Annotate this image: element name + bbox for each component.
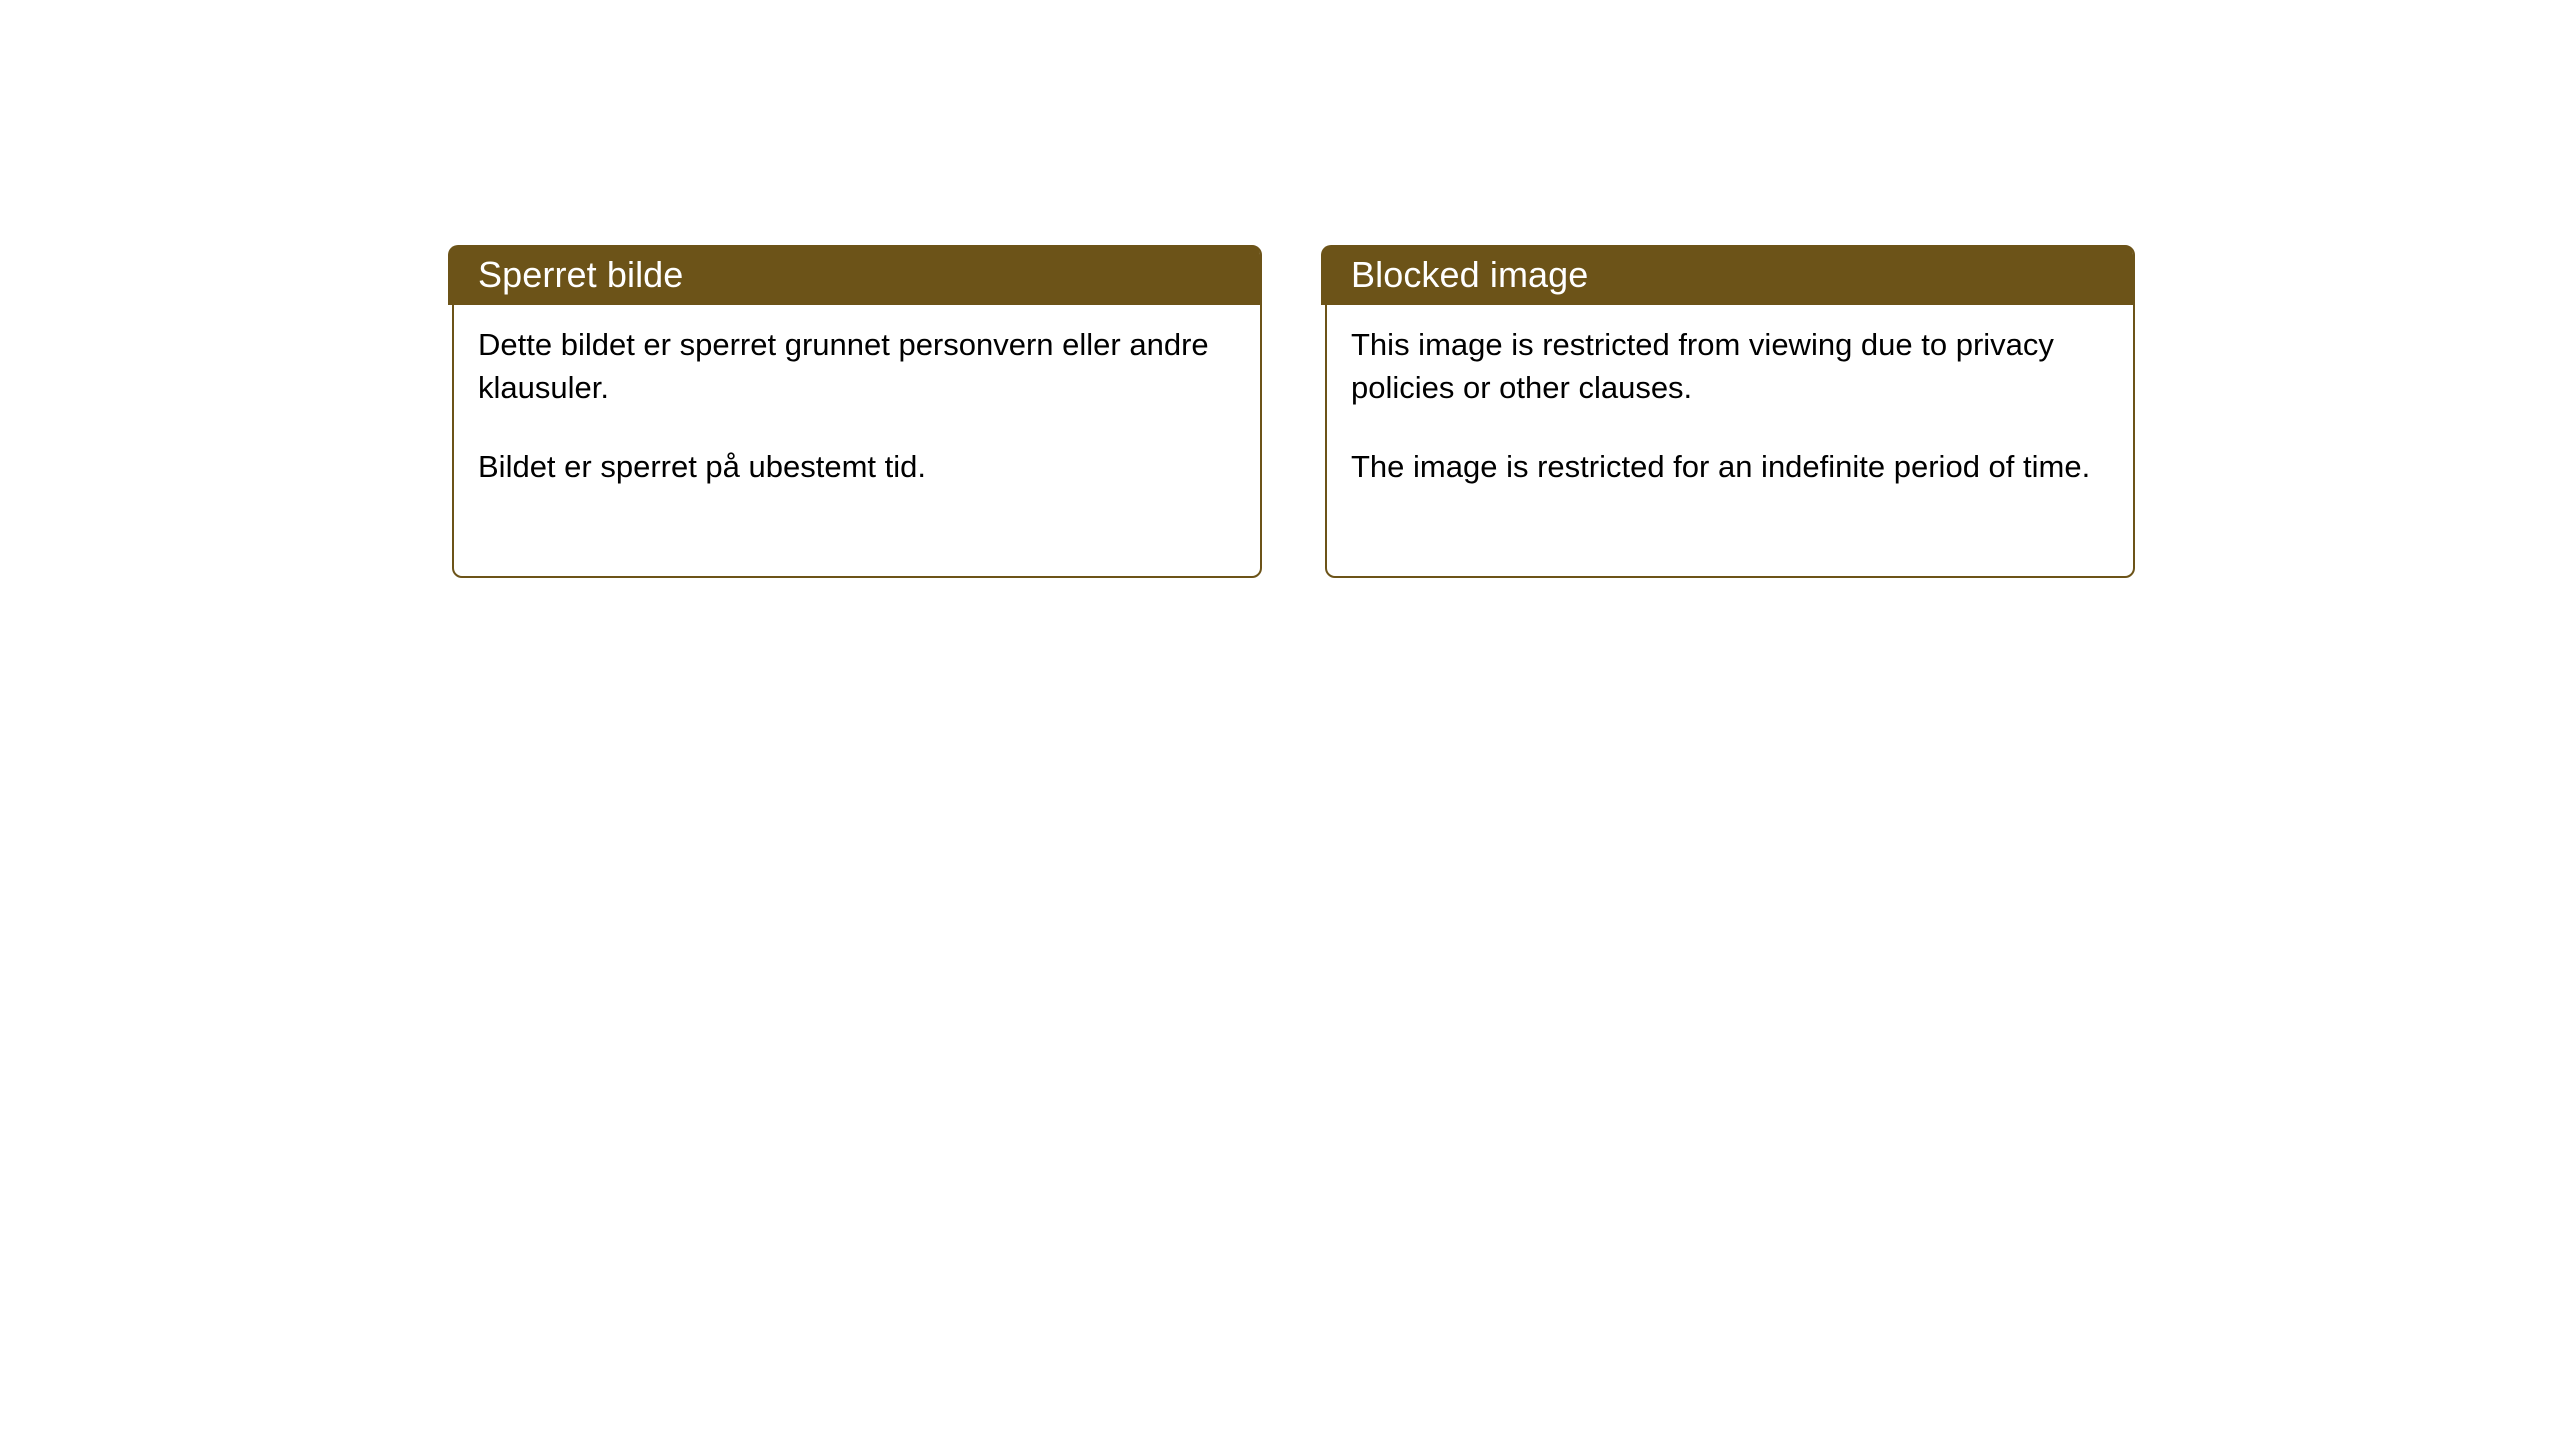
notice-paragraph-duration-en: The image is restricted for an indefinit… xyxy=(1351,445,2111,488)
blocked-image-notice-card-en: Blocked image This image is restricted f… xyxy=(1325,245,2135,578)
notice-stage: Sperret bilde Dette bildet er sperret gr… xyxy=(0,0,2560,1440)
notice-header-bar-no: Sperret bilde xyxy=(448,245,1260,305)
notice-header-bar-en: Blocked image xyxy=(1321,245,2133,305)
notice-paragraph-reason-no: Dette bildet er sperret grunnet personve… xyxy=(478,323,1238,409)
notice-paragraph-reason-en: This image is restricted from viewing du… xyxy=(1351,323,2111,409)
notice-title-en: Blocked image xyxy=(1351,255,1588,295)
notice-body-no: Dette bildet er sperret grunnet personve… xyxy=(454,305,1260,576)
blocked-image-notice-card-no: Sperret bilde Dette bildet er sperret gr… xyxy=(452,245,1262,578)
notice-title-no: Sperret bilde xyxy=(478,255,683,295)
notice-paragraph-duration-no: Bildet er sperret på ubestemt tid. xyxy=(478,445,1238,488)
notice-body-en: This image is restricted from viewing du… xyxy=(1327,305,2133,576)
